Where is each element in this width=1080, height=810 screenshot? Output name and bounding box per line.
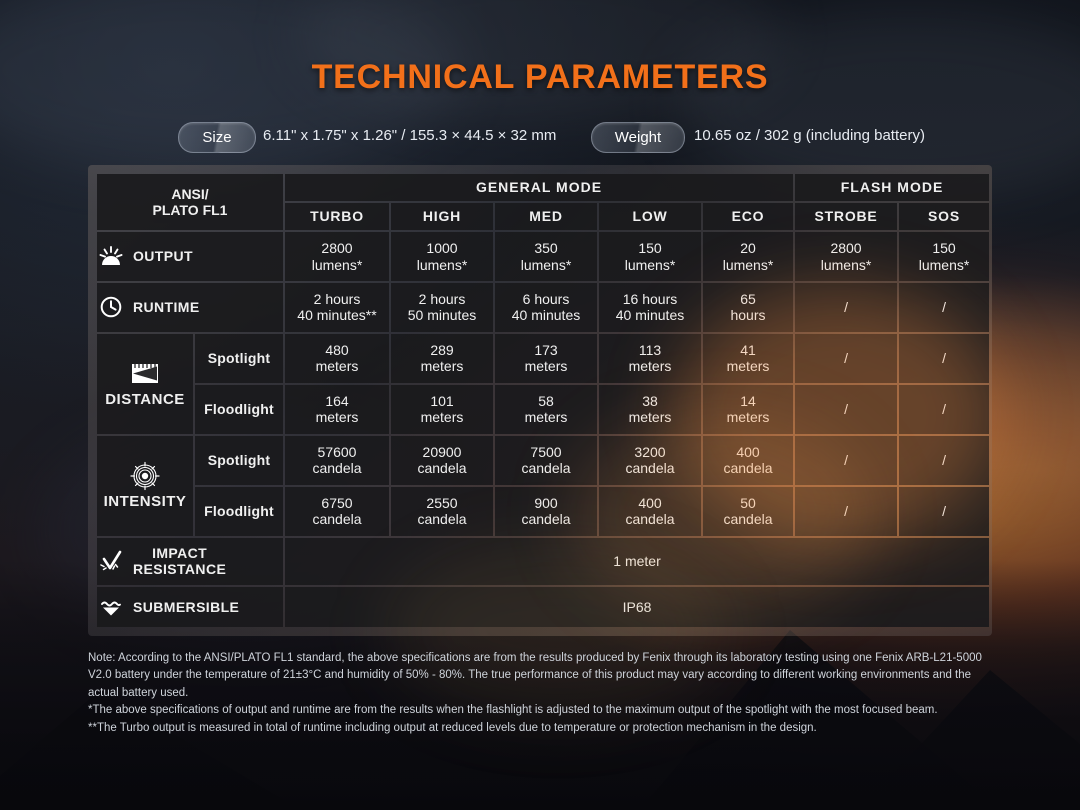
cell-intensity-floodlight-strobe: / (795, 487, 897, 536)
cell-output-high: 1000lumens* (391, 232, 493, 281)
page-title: TECHNICAL PARAMETERS (0, 58, 1080, 97)
cell-distance-spotlight-eco: 41meters (703, 334, 793, 383)
ansi-plato-header: ANSI/ PLATO FL1 (97, 174, 283, 230)
cell-distance-spotlight-turbo: 480meters (285, 334, 389, 383)
column-header-low: LOW (599, 203, 701, 230)
table-row-submersible: SUBMERSIBLE IP68 (97, 587, 989, 627)
cell-distance-floodlight-sos: / (899, 385, 989, 434)
row-label-runtime-text: RUNTIME (133, 299, 200, 316)
column-header-turbo: TURBO (285, 203, 389, 230)
cell-runtime-low: 16 hours40 minutes (599, 283, 701, 332)
cell-output-med: 350lumens* (495, 232, 597, 281)
cell-intensity-spotlight-turbo: 57600candela (285, 436, 389, 485)
sub-label-intensity-spotlight: Spotlight (195, 436, 283, 485)
table-row-impact-resistance: IMPACT RESISTANCE 1 meter (97, 538, 989, 586)
cell-impact-resistance-value: 1 meter (285, 538, 989, 586)
cell-output-low: 150lumens* (599, 232, 701, 281)
cell-distance-spotlight-low: 113meters (599, 334, 701, 383)
table-row-distance-floodlight: Floodlight 164meters 101meters 58meters … (97, 385, 989, 434)
footnote-single-asterisk: *The above specifications of output and … (88, 702, 996, 719)
table-row-intensity-spotlight: INTENSITY Spotlight 57600candela 20900ca… (97, 436, 989, 485)
sub-label-intensity-floodlight: Floodlight (195, 487, 283, 536)
footnote-double-asterisk: **The Turbo output is measured in total … (88, 720, 996, 737)
weight-pill: Weight (591, 122, 685, 153)
cell-intensity-spotlight-low: 3200candela (599, 436, 701, 485)
cell-distance-spotlight-sos: / (899, 334, 989, 383)
sub-label-distance-spotlight: Spotlight (195, 334, 283, 383)
cell-runtime-strobe: / (795, 283, 897, 332)
cell-runtime-med: 6 hours40 minutes (495, 283, 597, 332)
row-label-intensity-text: INTENSITY (104, 493, 187, 511)
row-label-impact-resistance: IMPACT RESISTANCE (97, 538, 283, 586)
table-row-distance-spotlight: DISTANCE Spotlight 480meters 289meters 1… (97, 334, 989, 383)
size-pill: Size (178, 122, 256, 153)
group-header-flash-mode: FLASH MODE (795, 174, 989, 201)
cell-intensity-spotlight-strobe: / (795, 436, 897, 485)
column-header-sos: SOS (899, 203, 989, 230)
cell-intensity-floodlight-high: 2550candela (391, 487, 493, 536)
cell-distance-spotlight-med: 173meters (495, 334, 597, 383)
column-header-eco: ECO (703, 203, 793, 230)
cell-output-eco: 20lumens* (703, 232, 793, 281)
cell-runtime-eco: 65hours (703, 283, 793, 332)
column-header-strobe: STROBE (795, 203, 897, 230)
submersible-label-text: SUBMERSIBLE (133, 599, 239, 616)
water-waves-icon (98, 594, 124, 620)
column-header-med: MED (495, 203, 597, 230)
size-value: 6.11" x 1.75" x 1.26" / 155.3 × 44.5 × 3… (263, 127, 556, 144)
row-label-submersible: SUBMERSIBLE (97, 587, 283, 627)
weight-value: 10.65 oz / 302 g (including battery) (694, 127, 925, 144)
cell-distance-floodlight-strobe: / (795, 385, 897, 434)
cell-intensity-spotlight-eco: 400candela (703, 436, 793, 485)
row-label-runtime: RUNTIME (97, 283, 283, 332)
row-label-distance: DISTANCE (97, 334, 193, 434)
table-row-output: OUTPUT 2800lumens* 1000lumens* 350lumens… (97, 232, 989, 281)
table-row-intensity-floodlight: Floodlight 6750candela 2550candela 900ca… (97, 487, 989, 536)
row-label-distance-text: DISTANCE (105, 391, 185, 409)
row-label-intensity: INTENSITY (97, 436, 193, 536)
row-label-output-text: OUTPUT (133, 248, 193, 265)
ansi-line-2: PLATO FL1 (98, 202, 282, 218)
cell-distance-floodlight-eco: 14meters (703, 385, 793, 434)
cell-intensity-spotlight-med: 7500candela (495, 436, 597, 485)
row-label-output: OUTPUT (97, 232, 283, 281)
footnote-note: Note: According to the ANSI/PLATO FL1 st… (88, 650, 996, 702)
cell-runtime-high: 2 hours50 minutes (391, 283, 493, 332)
clock-icon (98, 294, 124, 320)
table-group-header-row: ANSI/ PLATO FL1 GENERAL MODE FLASH MODE (97, 174, 989, 201)
ansi-line-1: ANSI/ (98, 186, 282, 202)
spec-sheet: TECHNICAL PARAMETERS Size 6.11" x 1.75" … (0, 0, 1080, 810)
cell-runtime-sos: / (899, 283, 989, 332)
size-weight-row: Size 6.11" x 1.75" x 1.26" / 155.3 × 44.… (0, 122, 1080, 154)
cell-output-turbo: 2800lumens* (285, 232, 389, 281)
impact-resistance-icon (98, 548, 124, 574)
cell-intensity-floodlight-low: 400candela (599, 487, 701, 536)
cell-intensity-spotlight-high: 20900candela (391, 436, 493, 485)
beam-distance-icon (128, 359, 162, 389)
table-row-runtime: RUNTIME 2 hours40 minutes** 2 hours50 mi… (97, 283, 989, 332)
impact-label-line-2: RESISTANCE (133, 561, 226, 577)
cell-intensity-floodlight-med: 900candela (495, 487, 597, 536)
specifications-table-frame: ANSI/ PLATO FL1 GENERAL MODE FLASH MODE … (88, 165, 992, 636)
specifications-table: ANSI/ PLATO FL1 GENERAL MODE FLASH MODE … (95, 172, 991, 629)
cell-output-strobe: 2800lumens* (795, 232, 897, 281)
cell-intensity-spotlight-sos: / (899, 436, 989, 485)
sub-label-distance-floodlight: Floodlight (195, 385, 283, 434)
cell-intensity-floodlight-turbo: 6750candela (285, 487, 389, 536)
cell-distance-floodlight-low: 38meters (599, 385, 701, 434)
cell-distance-spotlight-high: 289meters (391, 334, 493, 383)
sunburst-icon (98, 244, 124, 270)
cell-submersible-value: IP68 (285, 587, 989, 627)
target-intensity-icon (128, 461, 162, 491)
column-header-high: HIGH (391, 203, 493, 230)
cell-intensity-floodlight-eco: 50candela (703, 487, 793, 536)
cell-runtime-turbo: 2 hours40 minutes** (285, 283, 389, 332)
impact-label-line-1: IMPACT (133, 545, 226, 561)
cell-distance-floodlight-high: 101meters (391, 385, 493, 434)
cell-intensity-floodlight-sos: / (899, 487, 989, 536)
footnotes: Note: According to the ANSI/PLATO FL1 st… (88, 650, 996, 737)
cell-distance-spotlight-strobe: / (795, 334, 897, 383)
cell-distance-floodlight-turbo: 164meters (285, 385, 389, 434)
cell-distance-floodlight-med: 58meters (495, 385, 597, 434)
cell-output-sos: 150lumens* (899, 232, 989, 281)
group-header-general-mode: GENERAL MODE (285, 174, 793, 201)
